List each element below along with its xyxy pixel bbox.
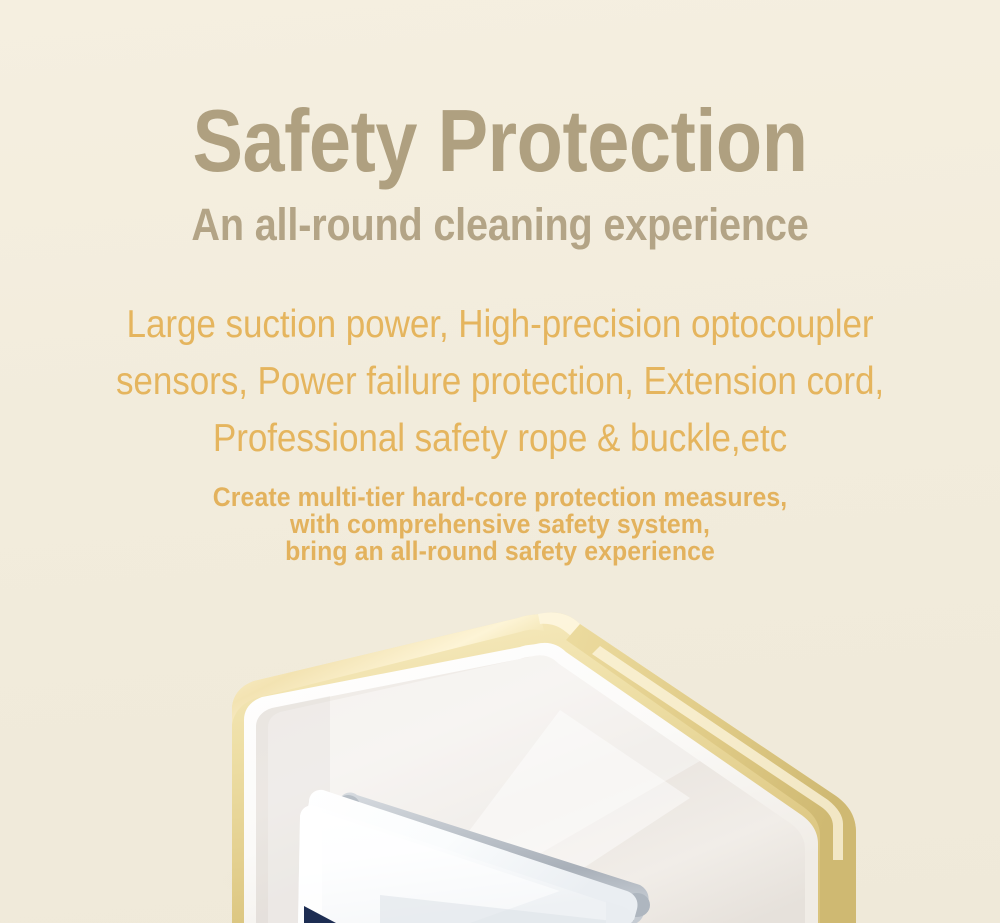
page-title: Safety Protection: [70, 95, 930, 187]
summary-line: with comprehensive safety system,: [40, 511, 960, 538]
summary-line: bring an all-round safety experience: [40, 538, 960, 565]
feature-line: sensors, Power failure protection, Exten…: [50, 353, 950, 410]
feature-line: Professional safety rope & buckle,etc: [50, 410, 950, 467]
summary-list: Create multi-tier hard-core protection m…: [0, 484, 1000, 565]
summary-line: Create multi-tier hard-core protection m…: [40, 484, 960, 511]
feature-list: Large suction power, High-precision opto…: [0, 296, 1000, 467]
safety-protection-banner: Safety Protection An all-round cleaning …: [0, 0, 1000, 923]
device-left-highlight: [298, 806, 322, 923]
product-illustration: [0, 560, 1000, 923]
feature-line: Large suction power, High-precision opto…: [50, 296, 950, 353]
page-subtitle: An all-round cleaning experience: [60, 199, 940, 251]
